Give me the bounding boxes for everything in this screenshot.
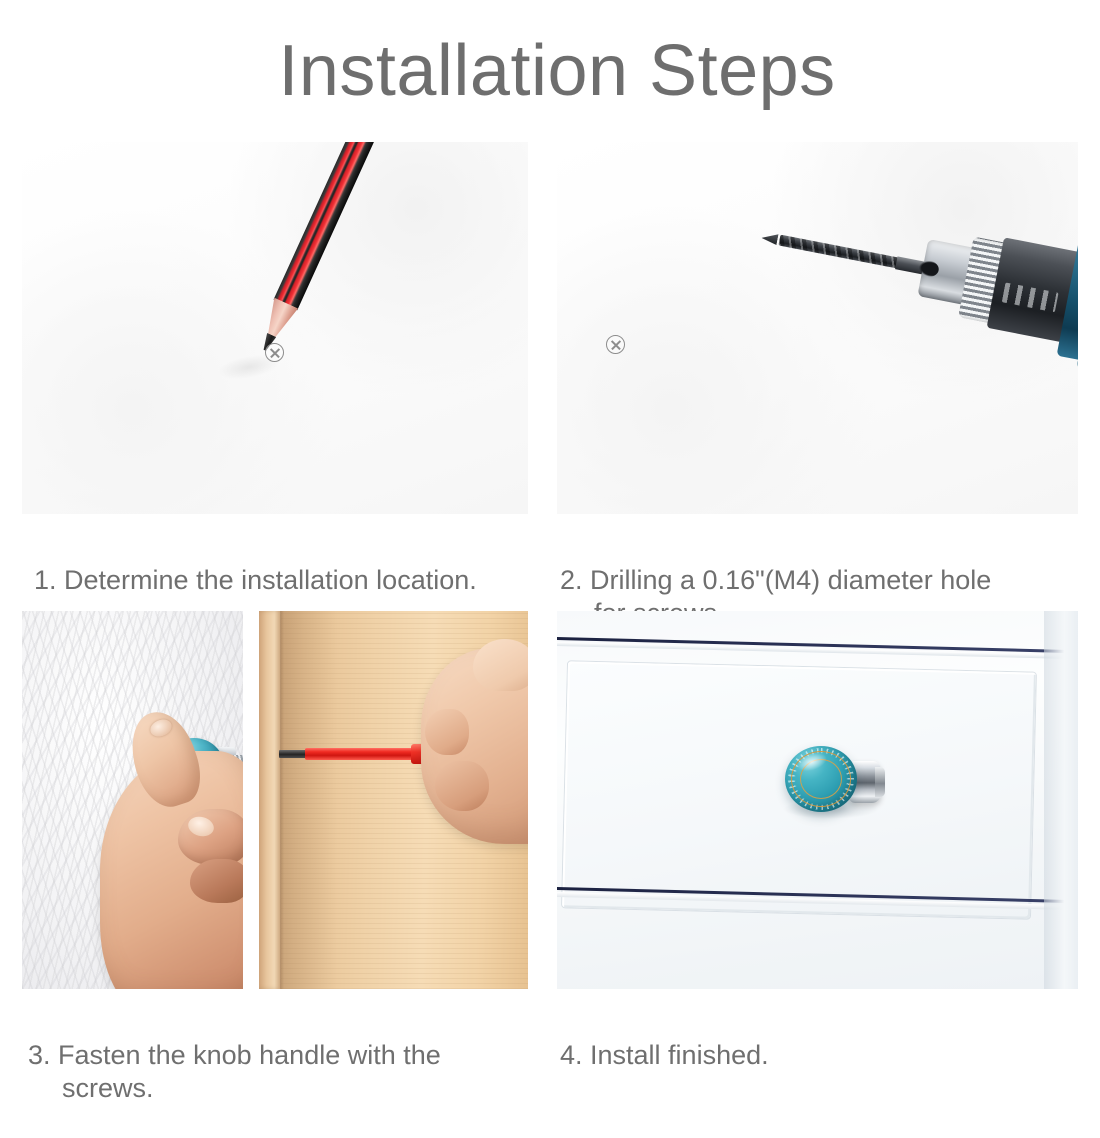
step-4-image xyxy=(557,611,1078,989)
cabinet-right-edge xyxy=(1044,611,1078,989)
screwdriver-shaft xyxy=(305,748,417,760)
page-title: Installation Steps xyxy=(0,34,1100,110)
hand-knuckle-lower xyxy=(435,761,489,811)
step-4-caption: 4. Install finished. xyxy=(560,1006,1080,1105)
drill-bit-flutes xyxy=(778,235,904,270)
step-1-caption-text: 1. Determine the installation location. xyxy=(34,564,544,597)
teal-knob-icon xyxy=(785,746,857,812)
hand-finger xyxy=(178,809,243,865)
step-3-caption-text: 3. Fasten the knob handle with the screw… xyxy=(28,1039,538,1105)
crosshair-target-icon xyxy=(606,335,625,354)
step-3-image-left xyxy=(22,611,243,989)
wood-panel-edge xyxy=(259,611,281,989)
step-3-image-right xyxy=(259,611,528,989)
step-1-image xyxy=(22,142,528,514)
hand-knuckle-mid xyxy=(425,709,469,755)
step-4-caption-text: 4. Install finished. xyxy=(560,1039,1080,1072)
hand-knuckle-top xyxy=(473,639,528,691)
wood-edge-shadow xyxy=(281,611,337,989)
crosshair-target-icon xyxy=(265,343,284,362)
hand-finger-lower xyxy=(190,859,243,903)
step-3-caption: 3. Fasten the knob handle with the screw… xyxy=(28,1006,538,1138)
step-2-image xyxy=(557,142,1078,514)
